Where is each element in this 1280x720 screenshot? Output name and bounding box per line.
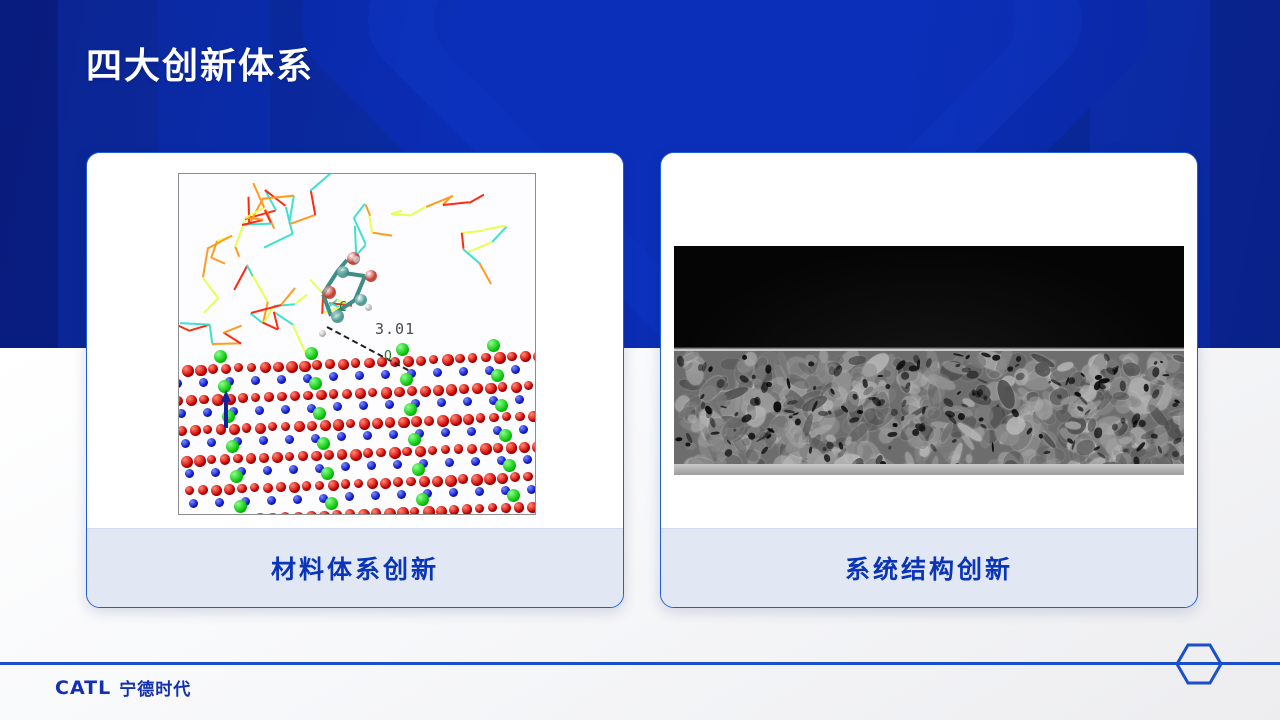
sem-porous-electrode-layer [674, 351, 1184, 466]
hexagon-decoration [1176, 641, 1222, 687]
card-system-structure-innovation[interactable]: 系统结构创新 [660, 152, 1198, 608]
card-material-innovation[interactable]: 3.01 C O 材料体系创新 [86, 152, 624, 608]
catl-logo: CATL 宁德时代 [55, 675, 191, 700]
slide-root: 四大创新体系 3.01 C O 材料体系创新 [0, 0, 1280, 720]
logo-chinese-text: 宁德时代 [119, 675, 191, 700]
crystal-lattice-layer [179, 338, 535, 514]
card-caption-material: 材料体系创新 [87, 528, 623, 607]
logo-latin-text: CATL [55, 677, 111, 699]
molecule-image-frame: 3.01 C O [178, 173, 536, 515]
distance-annotation: 3.01 [375, 320, 415, 338]
electrolyte-wireframe-layer [179, 174, 535, 354]
sem-cross-section-figure [661, 153, 1197, 528]
card-caption-system: 系统结构创新 [661, 528, 1197, 607]
atom-label-oxygen: O [384, 349, 393, 364]
card-caption-text: 材料体系创新 [271, 550, 439, 586]
molecular-dynamics-figure: 3.01 C O [87, 153, 623, 528]
sem-substrate-strip [674, 464, 1184, 475]
sem-image [674, 246, 1184, 475]
sem-void-region [674, 246, 1184, 354]
atom-label-carbon: C [339, 300, 348, 315]
card-caption-text: 系统结构创新 [845, 550, 1013, 586]
page-title: 四大创新体系 [86, 44, 314, 87]
footer-divider [0, 662, 1280, 665]
